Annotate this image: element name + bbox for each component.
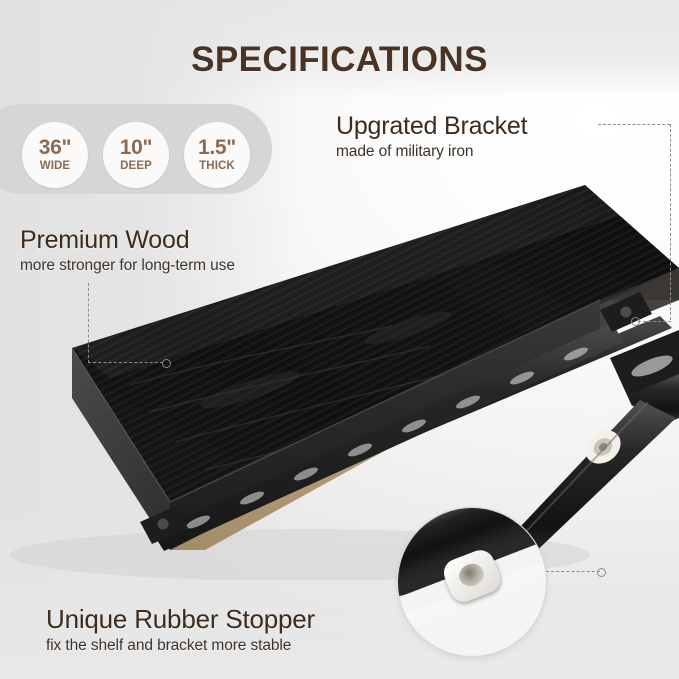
spec-badge-thick: 1.5" THICK [184, 122, 250, 188]
spec-badge-wide-value: 36" [39, 137, 71, 158]
callout-stopper: Unique Rubber Stopper fix the shelf and … [46, 604, 315, 655]
callout-wood-subtext: more stronger for long-term use [20, 257, 235, 275]
leader-wood-endpoint [162, 359, 171, 368]
leader-wood-vertical [88, 283, 89, 363]
callout-bracket-heading: Upgrated Bracket [336, 112, 527, 141]
callout-bracket: Upgrated Bracket made of military iron [336, 112, 527, 161]
leader-stopper-endpoint [597, 568, 606, 577]
leader-bracket-horizontal [598, 124, 670, 125]
spec-badge-thick-label: THICK [199, 161, 235, 173]
spec-badge-wide-label: WIDE [40, 161, 70, 173]
page-title: SPECIFICATIONS [0, 40, 679, 80]
spec-badge-deep-value: 10" [120, 137, 152, 158]
callout-stopper-subtext: fix the shelf and bracket more stable [46, 637, 315, 655]
spec-badge-deep-label: DEEP [120, 161, 152, 173]
callout-bracket-subtext: made of military iron [336, 143, 527, 161]
leader-bracket-vertical [670, 124, 671, 320]
spec-badge-deep: 10" DEEP [103, 122, 169, 188]
leader-stopper-horizontal [546, 571, 600, 572]
magnifier-rubber-stopper [398, 508, 546, 656]
spec-badge-wide: 36" WIDE [22, 122, 88, 188]
callout-wood: Premium Wood more stronger for long-term… [20, 226, 235, 275]
specifications-infographic: SPECIFICATIONS [0, 0, 679, 679]
callout-stopper-heading: Unique Rubber Stopper [46, 604, 315, 635]
callout-wood-heading: Premium Wood [20, 226, 235, 255]
leader-wood-horizontal [88, 362, 163, 363]
product-illustration [0, 150, 679, 580]
spec-badge-thick-value: 1.5" [198, 137, 236, 158]
leader-bracket-tail [638, 321, 671, 322]
